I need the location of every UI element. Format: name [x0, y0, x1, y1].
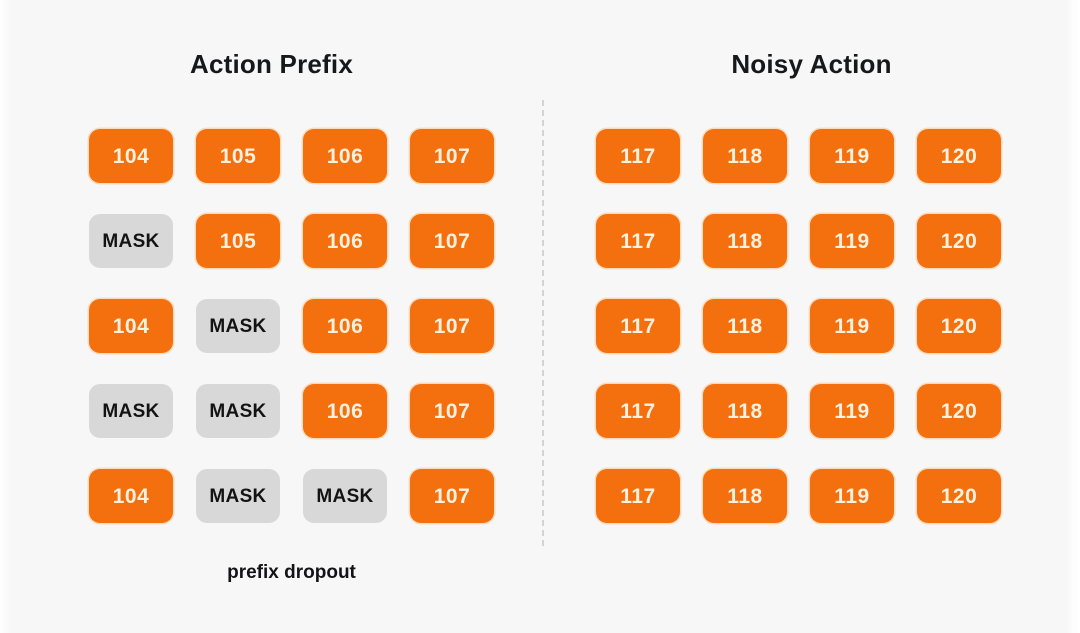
- action-token: 120: [917, 469, 1001, 523]
- mask-token: MASK: [196, 299, 280, 353]
- mask-token: MASK: [89, 384, 173, 438]
- action-token: 118: [703, 129, 787, 183]
- action-token: 107: [410, 469, 494, 523]
- action-token: 117: [596, 129, 680, 183]
- action-token: 120: [917, 299, 1001, 353]
- action-token: 106: [303, 129, 387, 183]
- action-token: 120: [917, 214, 1001, 268]
- action-token: 120: [917, 384, 1001, 438]
- action-token: 105: [196, 214, 280, 268]
- prefix-dropout-caption: prefix dropout: [89, 562, 494, 584]
- mask-token: MASK: [303, 469, 387, 523]
- action-token: 117: [596, 384, 680, 438]
- right-panel-title: Noisy Action: [543, 49, 1080, 80]
- action-token: 119: [810, 469, 894, 523]
- mask-token: MASK: [89, 214, 173, 268]
- left-panel-title: Action Prefix: [0, 49, 543, 80]
- panel-divider: [542, 100, 544, 546]
- action-token: 120: [917, 129, 1001, 183]
- mask-token: MASK: [196, 469, 280, 523]
- action-token: 119: [810, 129, 894, 183]
- action-token: 119: [810, 299, 894, 353]
- figure-canvas: Action Prefix Noisy Action 104105106107M…: [0, 0, 1080, 633]
- action-token: 118: [703, 299, 787, 353]
- action-token: 119: [810, 214, 894, 268]
- action-token: 107: [410, 384, 494, 438]
- action-token: 105: [196, 129, 280, 183]
- action-token: 118: [703, 384, 787, 438]
- action-token: 107: [410, 299, 494, 353]
- action-token: 119: [810, 384, 894, 438]
- action-token: 118: [703, 214, 787, 268]
- action-token: 104: [89, 299, 173, 353]
- action-token: 106: [303, 384, 387, 438]
- action-token: 118: [703, 469, 787, 523]
- action-token: 106: [303, 299, 387, 353]
- action-token: 117: [596, 469, 680, 523]
- mask-token: MASK: [196, 384, 280, 438]
- action-token: 117: [596, 214, 680, 268]
- action-token: 104: [89, 129, 173, 183]
- action-token: 106: [303, 214, 387, 268]
- action-token: 107: [410, 214, 494, 268]
- action-token: 117: [596, 299, 680, 353]
- action-token: 107: [410, 129, 494, 183]
- action-token: 104: [89, 469, 173, 523]
